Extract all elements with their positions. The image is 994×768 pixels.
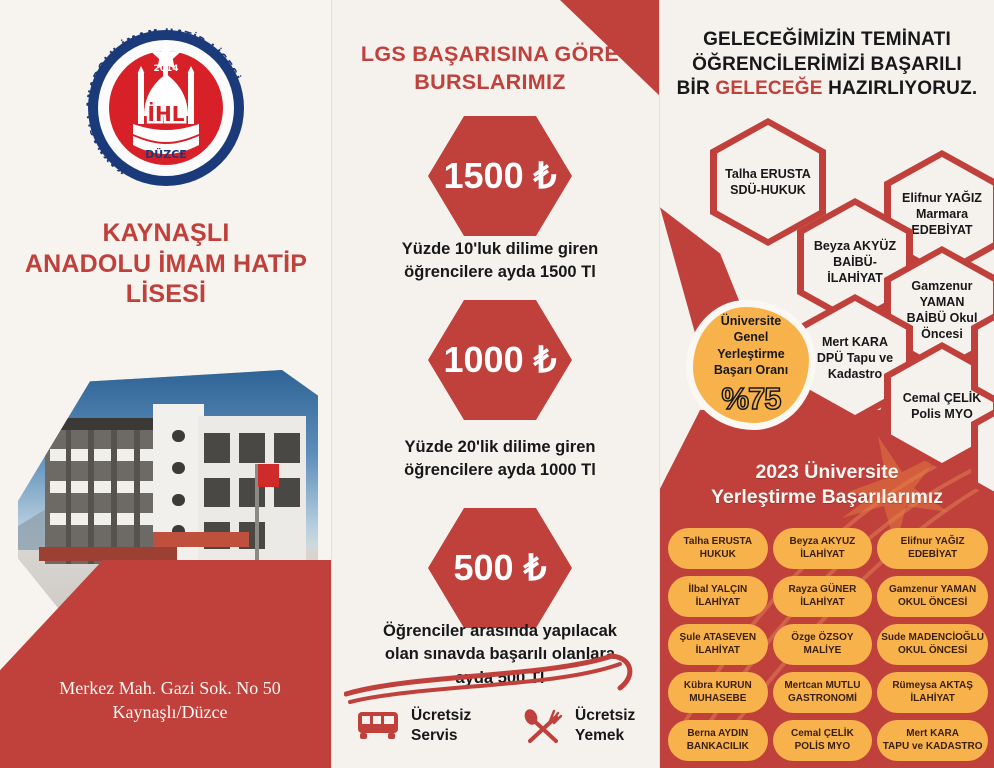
scholarship-caption-1: Yüzde 10'luk dilime giren öğrencilere ay… <box>350 238 650 285</box>
right-headline-line-3-post: HAZIRLIYORUZ. <box>823 78 978 99</box>
placements-section-title: 2023 Üniversite Yerleştirme Başarılarımı… <box>664 460 990 511</box>
svg-text:İHL: İHL <box>148 102 185 126</box>
placement-dept: İLAHİYAT <box>800 549 844 561</box>
placements-title-line-1: 2023 Üniversite <box>664 460 990 485</box>
right-headline-line-3-pre: BİR <box>677 78 716 99</box>
rate-badge-line-1: Üniversite <box>715 313 787 329</box>
scholarship-title-line-2: BURSLARIMIZ <box>345 68 635 96</box>
perk-free-meal-label: Ücretsiz Yemek <box>575 706 635 746</box>
address-line-1: Merkez Mah. Gazi Sok. No 50 <box>30 676 310 700</box>
placement-dept: MALİYE <box>804 645 842 657</box>
placement-dept: GASTRONOMİ <box>788 693 857 705</box>
placement-name: Elifnur YAĞIZ <box>901 536 965 548</box>
rate-badge-value: %75 <box>721 381 780 417</box>
placement-pill: Kübra KURUNMUHASEBE <box>668 672 768 713</box>
right-headline-line-1: GELECEĞİMİZİN TEMİNATI <box>664 28 990 53</box>
perk-bus-line-2: Servis <box>411 726 471 746</box>
placement-dept: İLAHİYAT <box>910 693 954 705</box>
honeycomb-name-6: Şule ATASEVEN <box>982 334 994 366</box>
placement-name: Sude MADENCİOĞLU <box>881 632 984 644</box>
placement-pill: Rümeysa AKTAŞİLAHİYAT <box>877 672 988 713</box>
svg-text:2014: 2014 <box>153 64 178 74</box>
scholarship-caption-3-line-1: Öğrenciler arasında yapılacak <box>350 620 650 643</box>
placement-pill: Cemal ÇELİKPOLİS MYO <box>773 720 873 761</box>
scholarship-title-line-1: LGS BAŞARISINA GÖRE <box>345 40 635 68</box>
address-line-2: Kaynaşlı/Düzce <box>30 700 310 724</box>
placement-pill: Şule ATASEVENİLAHİYAT <box>668 624 768 665</box>
placement-dept: HUKUK <box>700 549 736 561</box>
perk-meal-line-1: Ücretsiz <box>575 706 635 726</box>
placement-pill: Elifnur YAĞIZEDEBİYAT <box>877 528 988 569</box>
right-headline-line-3: BİR GELECEĞE HAZIRLIYORUZ. <box>664 77 990 102</box>
placement-pill: İlbal YALÇINİLAHİYAT <box>668 576 768 617</box>
right-headline-highlight: GELECEĞE <box>715 78 822 99</box>
scholarship-caption-2: Yüzde 20'lik dilime giren öğrencilere ay… <box>350 436 650 483</box>
placement-name: Berna AYDIN <box>687 728 748 740</box>
scholarship-caption-2-line-1: Yüzde 20'lik dilime giren <box>350 436 650 459</box>
placement-dept: POLİS MYO <box>795 741 851 753</box>
svg-text:DÜZCE: DÜZCE <box>145 147 187 161</box>
placement-name: Rümeysa AKTAŞ <box>892 680 973 692</box>
scholarship-title: LGS BAŞARISINA GÖRE BURSLARIMIZ <box>345 40 635 97</box>
scholarship-caption-2-line-2: öğrencilere ayda 1000 Tl <box>350 459 650 482</box>
placement-pill: Mert KARATAPU ve KADASTRO <box>877 720 988 761</box>
brochure-page: 2014 İHL DÜZCE KAYNAŞLI ANADOLU İMAM HAT… <box>0 0 994 768</box>
placement-name: Kübra KURUN <box>684 680 752 692</box>
placement-name: Beyza AKYUZ <box>790 536 856 548</box>
right-headline-line-2: ÖĞRENCİLERİMİZİ BAŞARILI <box>664 53 990 78</box>
honeycomb-dept-6: A... <box>982 366 994 382</box>
placement-name: Rayza GÜNER <box>789 584 857 596</box>
photo-building-left <box>45 430 159 564</box>
scholarship-caption-1-line-1: Yüzde 10'luk dilime giren <box>350 238 650 261</box>
photo-base-wall <box>39 547 177 561</box>
address-block: Merkez Mah. Gazi Sok. No 50 Kaynaşlı/Düz… <box>30 676 310 725</box>
school-crest-icon: 2014 İHL DÜZCE KAYNAŞLI ANADOLU İMAM HAT… <box>86 28 246 188</box>
perk-bus-line-1: Ücretsiz <box>411 706 471 726</box>
placement-dept: İLAHİYAT <box>696 645 740 657</box>
perk-free-bus-label: Ücretsiz Servis <box>411 706 471 746</box>
placement-pill: Berna AYDINBANKACILIK <box>668 720 768 761</box>
photo-entrance-canopy <box>153 532 249 546</box>
placement-dept: EDEBİYAT <box>908 549 957 561</box>
honeycomb-name-5: Cemal ÇELİK <box>903 390 982 406</box>
placement-name: Cemal ÇELİK <box>791 728 854 740</box>
placements-grid: Talha ERUSTAHUKUKBeyza AKYUZİLAHİYATElif… <box>668 528 988 761</box>
bus-icon <box>356 708 402 744</box>
panel-left: 2014 İHL DÜZCE KAYNAŞLI ANADOLU İMAM HAT… <box>0 0 332 768</box>
placement-dept: OKUL ÖNCESİ <box>898 645 967 657</box>
honeycomb-name-0: Talha ERUSTA <box>725 166 811 182</box>
school-name-line-2: ANADOLU İMAM HATİP <box>8 249 324 280</box>
placement-dept: BANKACILIK <box>687 741 749 753</box>
right-headline: GELECEĞİMİZİN TEMİNATI ÖĞRENCİLERİMİZİ B… <box>664 28 990 102</box>
placement-name: Mertcan MUTLU <box>784 680 860 692</box>
placement-pill: Talha ERUSTAHUKUK <box>668 528 768 569</box>
fork-spoon-icon <box>520 707 566 745</box>
placement-dept: OKUL ÖNCESİ <box>898 597 967 609</box>
placements-title-line-2: Yerleştirme Başarılarımız <box>664 485 990 510</box>
placement-name: İlbal YALÇIN <box>688 584 747 596</box>
rate-badge-line-3: Başarı Oranı <box>708 362 794 378</box>
scholarship-caption-1-line-2: öğrencilere ayda 1500 Tl <box>350 261 650 284</box>
placement-dept: MUHASEBE <box>689 693 746 705</box>
placement-pill: Sude MADENCİOĞLUOKUL ÖNCESİ <box>877 624 988 665</box>
perk-free-bus: Ücretsiz Servis <box>356 706 471 746</box>
placement-dept: İLAHİYAT <box>696 597 740 609</box>
honeycomb-dept-0: SDÜ-HUKUK <box>725 182 811 198</box>
placement-dept: TAPU ve KADASTRO <box>883 741 983 753</box>
status-badge: Üniversite Genel Yerleştirme Başarı Oran… <box>686 300 816 430</box>
honeycomb-dept-5: Polis MYO <box>903 406 982 422</box>
placement-pill: Beyza AKYUZİLAHİYAT <box>773 528 873 569</box>
photo-turkish-flag <box>258 464 279 487</box>
placement-name: Talha ERUSTA <box>684 536 753 548</box>
page-title: KAYNAŞLI ANADOLU İMAM HATİP LİSESİ <box>8 218 324 310</box>
perk-meal-line-2: Yemek <box>575 726 635 746</box>
school-name-line-3: LİSESİ <box>8 279 324 310</box>
placement-name: Özge ÖZSOY <box>791 632 853 644</box>
perk-free-meal: Ücretsiz Yemek <box>520 706 635 746</box>
placement-dept: İLAHİYAT <box>800 597 844 609</box>
placement-name: Şule ATASEVEN <box>680 632 757 644</box>
placement-name: Gamzenur YAMAN <box>889 584 976 596</box>
placement-pill: Mertcan MUTLUGASTRONOMİ <box>773 672 873 713</box>
placement-name: Mert KARA <box>906 728 959 740</box>
school-name-line-1: KAYNAŞLI <box>8 218 324 249</box>
placement-pill: Rayza GÜNERİLAHİYAT <box>773 576 873 617</box>
placement-pill: Gamzenur YAMANOKUL ÖNCESİ <box>877 576 988 617</box>
rate-badge-line-2: Genel Yerleştirme <box>693 329 809 362</box>
placement-pill: Özge ÖZSOYMALİYE <box>773 624 873 665</box>
